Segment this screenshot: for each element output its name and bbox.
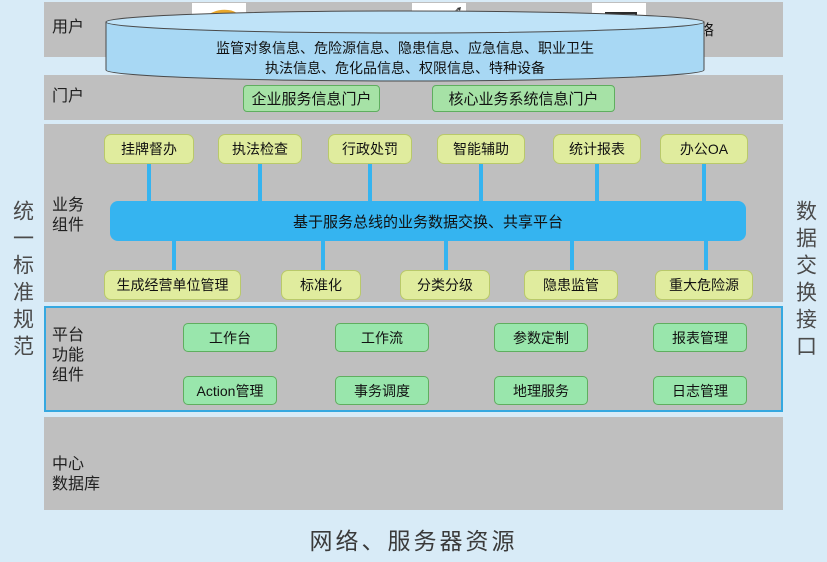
connector-zfjc <box>258 164 262 201</box>
portal-box-enterprise-service[interactable]: 企业服务信息门户 <box>243 85 380 112</box>
platform-components-label: 平台 功能 组件 <box>52 326 84 386</box>
connector-flfj <box>444 241 448 272</box>
biz-box-bgoa[interactable]: 办公OA <box>660 134 748 164</box>
central-database-section <box>44 417 783 510</box>
connector-bgoa <box>702 164 706 201</box>
right-rail-label: 数据交换接口 <box>795 200 816 362</box>
architecture-diagram: 统一标准规范 数据交换接口 用户 e 互联网 <box>0 0 827 562</box>
left-rail-label: 统一标准规范 <box>12 200 33 362</box>
plat-box-action-mgmt[interactable]: Action管理 <box>183 376 277 405</box>
bottom-caption: 网络、服务器资源 <box>44 516 783 562</box>
connector-scjydwgl <box>172 241 176 272</box>
plat-box-workflow[interactable]: 工作流 <box>335 323 429 352</box>
biz-box-znfz[interactable]: 智能辅助 <box>437 134 525 164</box>
plat-box-transaction-schedule[interactable]: 事务调度 <box>335 376 429 405</box>
connector-tjbb <box>595 164 599 201</box>
plat-box-param-custom[interactable]: 参数定制 <box>494 323 588 352</box>
biz-box-gpdb[interactable]: 挂牌督办 <box>104 134 194 164</box>
biz-box-zfjc[interactable]: 执法检查 <box>218 134 302 164</box>
portal-box-core-business[interactable]: 核心业务系统信息门户 <box>432 85 615 112</box>
central-database-content: 监管对象信息、危险源信息、隐患信息、应急信息、职业卫生 执法信息、危化品信息、权… <box>105 38 705 78</box>
connector-znfz <box>479 164 483 201</box>
biz-box-scjydwgl[interactable]: 生成经营单位管理 <box>104 270 241 300</box>
plat-box-workbench[interactable]: 工作台 <box>183 323 277 352</box>
business-components-label: 业务 组件 <box>52 196 84 236</box>
biz-box-bzh[interactable]: 标准化 <box>281 270 361 300</box>
connector-zdwxy <box>704 241 708 272</box>
biz-box-flfj[interactable]: 分类分级 <box>400 270 490 300</box>
right-rail: 数据交换接口 <box>783 0 827 562</box>
connector-bzh <box>321 241 325 272</box>
biz-box-zdwxy[interactable]: 重大危险源 <box>655 270 753 300</box>
connector-xzcf <box>368 164 372 201</box>
central-database-label: 中心 数据库 <box>52 455 100 495</box>
plat-box-log-mgmt[interactable]: 日志管理 <box>653 376 747 405</box>
connector-yhjg <box>570 241 574 272</box>
plat-box-geo-service[interactable]: 地理服务 <box>494 376 588 405</box>
left-rail: 统一标准规范 <box>0 0 44 562</box>
users-section-label: 用户 <box>52 18 84 38</box>
biz-box-yhjg[interactable]: 隐患监管 <box>524 270 618 300</box>
connector-gpdb <box>147 164 151 201</box>
plat-box-report-mgmt[interactable]: 报表管理 <box>653 323 747 352</box>
biz-box-xzcf[interactable]: 行政处罚 <box>328 134 412 164</box>
biz-box-tjbb[interactable]: 统计报表 <box>553 134 641 164</box>
portal-section-label: 门户 <box>52 87 84 107</box>
service-bus-bar[interactable]: 基于服务总线的业务数据交换、共享平台 <box>110 201 746 241</box>
